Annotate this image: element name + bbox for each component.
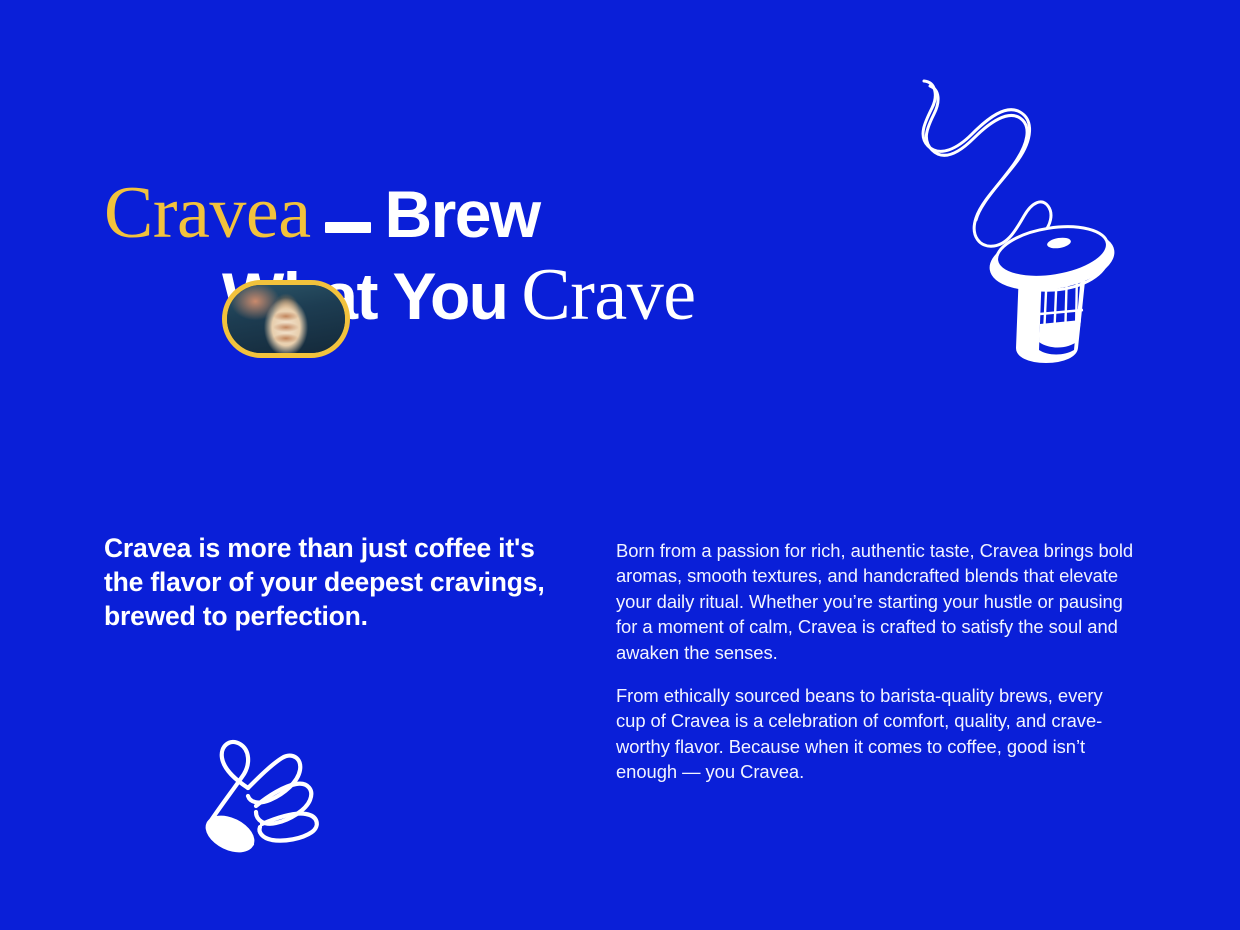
headline-word-crave: Crave	[521, 254, 695, 336]
latte-art-pill-image	[222, 280, 350, 358]
body-paragraph-1: Born from a passion for rich, authentic …	[616, 538, 1136, 665]
headline-dash	[325, 222, 371, 233]
body-copy: Born from a passion for rich, authentic …	[616, 538, 1136, 785]
coffee-cup-icon	[896, 64, 1120, 364]
headline-word-brew: Brew	[385, 177, 540, 251]
lead-heading: Cravea is more than just coffee it's the…	[104, 531, 554, 633]
latte-art-rosetta	[269, 308, 303, 354]
coffee-cup-svg	[896, 64, 1120, 364]
steam-ribbon	[923, 81, 1051, 246]
hand-gesture-svg	[196, 726, 336, 856]
hand-gesture-icon	[196, 726, 336, 856]
hand-thumb-shape	[200, 808, 261, 856]
headline-brand-word: Cravea	[104, 172, 311, 254]
body-paragraph-2: From ethically sourced beans to barista-…	[616, 683, 1136, 785]
cup-lid	[986, 220, 1117, 298]
